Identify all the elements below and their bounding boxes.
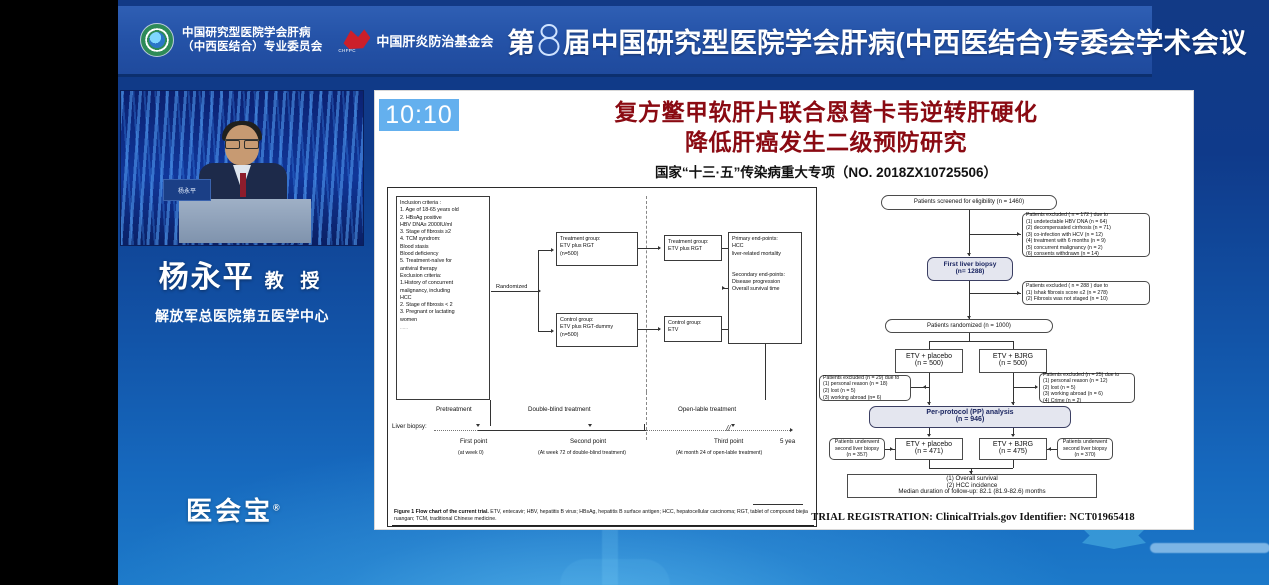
- skyline-base-1: [560, 559, 670, 585]
- timepoint-third: Third point: [714, 438, 743, 445]
- timeline-break-icon: //: [726, 424, 730, 433]
- excluded-left-3: (3) working abroad (n= 6): [823, 395, 881, 402]
- split-hline-bottom: [538, 331, 552, 332]
- brand-logo-text: 医会宝: [186, 496, 273, 526]
- biopsy-left-1: second liver biopsy: [835, 446, 879, 453]
- figure-caption-rule: [392, 525, 814, 526]
- criteria-15: 3. Pregnant or lactating: [400, 309, 486, 316]
- biopsy-right-arrow: [1048, 447, 1051, 451]
- pp-placebo-arrow: [927, 434, 931, 437]
- pp-arrow-left: [927, 402, 931, 405]
- tick-first: [476, 424, 480, 427]
- timepoint-first: First point: [460, 438, 487, 445]
- cg-to-cg2-line: [638, 329, 660, 330]
- timepoint-note-0: (at week 0): [458, 450, 484, 456]
- arm-bjrg-1: (n = 500): [999, 361, 1027, 368]
- rand-split: [929, 341, 1013, 342]
- out-right-v: [1013, 460, 1014, 468]
- excluded-left-1: (1) personal reason (n = 18): [823, 381, 887, 388]
- speaker-glasses-icon: [225, 139, 259, 146]
- cg2-arrow: [658, 327, 661, 331]
- treatment-group-0: Treatment group:: [560, 236, 634, 243]
- trial-flow-chart: Inclusion criteria : 1. Age of 18-65 yea…: [387, 187, 817, 527]
- excl-left-arrow: [923, 385, 926, 389]
- letterbox-left: [0, 0, 118, 585]
- speaker-name: 杨永平教 授: [120, 252, 364, 296]
- criteria-5: 4. TCM syndrom:: [400, 236, 486, 243]
- criteria-11: 1.History of concurrent: [400, 280, 486, 287]
- timeline-solid: [478, 430, 646, 431]
- skyline-glow: [1150, 543, 1269, 553]
- randomized-in-line: [491, 291, 539, 292]
- foundation-flame-icon: CHFPC: [338, 27, 374, 53]
- endpoint-1: HCC: [732, 243, 798, 250]
- excl-left-hline: [909, 387, 929, 388]
- slide-subtitle: 国家“十三·五”传染病重大专项（NO. 2018ZX10725506）: [473, 161, 1179, 181]
- brand-logo: 医会宝®: [186, 491, 280, 528]
- criteria-12: malignancy, including: [400, 288, 486, 295]
- criteria-9: antiviral therapy: [400, 266, 486, 273]
- treatment-group2-0: Treatment group:: [668, 239, 718, 246]
- screened-vline: [969, 210, 970, 256]
- excluded1-1: (1) undetectable HBV DNA (n = 64): [1026, 219, 1107, 226]
- endpoint-0: Primary end-points:: [732, 236, 798, 243]
- trial-registration-rule: [753, 504, 803, 505]
- biopsy-left-2: (n = 357): [847, 452, 868, 459]
- phase-label-double-blind: Double-blind treatment: [528, 406, 591, 413]
- speaker-affiliation: 解放军总医院第五医学中心: [120, 306, 364, 326]
- treatment-group2-1: ETV plus RGT: [668, 246, 718, 253]
- speaker-honorific: 教 授: [265, 271, 326, 292]
- slide-title: 复方鳖甲软肝片联合恩替卡韦逆转肝硬化 降低肝癌发生二级预防研究: [473, 97, 1179, 157]
- treatment-arrow: [551, 248, 554, 252]
- endpoint-6: Disease progression: [732, 279, 798, 286]
- organizer-name: 中国研究型医院学会肝病 （中西医结合）专业委员会: [182, 26, 322, 54]
- phase-divider-1: [646, 196, 647, 392]
- pp-placebo-box: ETV + placebo (n = 471): [895, 438, 963, 460]
- rand-left-drop: [929, 341, 930, 349]
- criteria-2: 2. HBsAg positive: [400, 215, 486, 222]
- excluded-right-4: (4) Crime (n = 2): [1043, 398, 1081, 405]
- pp-analysis-1: (n = 946): [956, 417, 985, 424]
- excluded2-0: Patients excluded ( n = 288 ) due to: [1026, 283, 1108, 290]
- foundation-logo-block: CHFPC 中国肝炎防治基金会: [338, 27, 493, 53]
- criteria-16: women: [400, 317, 486, 324]
- criteria-17: ……: [400, 324, 486, 331]
- excluded-bjrg-box: Patients excluded (n = 25) due to (1) pe…: [1039, 373, 1135, 403]
- society-seal-icon: [140, 23, 174, 57]
- excl-right-arrow: [1035, 385, 1038, 389]
- figure-caption: Figure 1 Flow chart of the current trial…: [394, 509, 812, 523]
- excluded-left-2: (2) lost (n = 5): [823, 388, 855, 395]
- timepoint-5yr: 5 yea: [780, 438, 795, 445]
- endpoint-gap1: [732, 258, 798, 265]
- endpoint-2: liver-related mortality: [732, 251, 798, 258]
- criteria-13: HCC: [400, 295, 486, 302]
- endpoints-arrow: [722, 286, 725, 290]
- excl2-hline: [969, 293, 1021, 294]
- criteria-tail-vline: [490, 400, 491, 426]
- outcomes-box: (1) Overall survival (2) HCC incidence M…: [847, 474, 1097, 498]
- control-group-box: Control group: ETV plus RGT-dummy (n=500…: [556, 313, 638, 347]
- treatment-group-1: ETV plus RGT: [560, 243, 634, 250]
- rand-right-drop: [1013, 341, 1014, 349]
- first-liver-biopsy-box: First liver biopsy (n= 1288): [927, 257, 1013, 281]
- excluded2-1: (1) Ishak fibrosis score ≤2 (n = 278): [1026, 290, 1108, 297]
- endpoint-gap2: [732, 265, 798, 272]
- timepoint-second: Second point: [570, 438, 606, 445]
- trial-registration: TRIAL REGISTRATION: ClinicalTrials.gov I…: [755, 512, 1191, 523]
- consort-diagram: Patients screened for eligibility (n = 1…: [823, 191, 1191, 496]
- biopsy-right-1: second liver biopsy: [1063, 446, 1107, 453]
- endpoint-7: Overall survival time: [732, 286, 798, 293]
- first-biopsy-1: (n= 1288): [956, 269, 985, 276]
- speaker-video-thumbnail[interactable]: 杨永平: [120, 90, 364, 246]
- outcome-2: Median duration of follow-up: 82.1 (81.9…: [898, 489, 1045, 496]
- criteria-4: 3. Stage of fibrosis ≥2: [400, 229, 486, 236]
- endpoint-5: Secondary end-points:: [732, 272, 798, 279]
- control-group-1: ETV plus RGT-dummy: [560, 324, 634, 331]
- dbl-blind-bracket: [644, 424, 645, 431]
- screened-box: Patients screened for eligibility (n = 1…: [881, 195, 1057, 210]
- criteria-1: 1. Age of 18-65 years old: [400, 207, 486, 214]
- phase-divider-2: [646, 392, 647, 440]
- banner-title: 第 届中国研究型医院学会肝病(中西医结合)专委会学术会议: [507, 20, 1246, 60]
- pp-bjrg-1: (n = 475): [999, 449, 1027, 456]
- treatment-group-box: Treatment group: ETV plus RGT (n=500): [556, 232, 638, 266]
- criteria-6: Blood stasis: [400, 244, 486, 251]
- figure-caption-bold: Figure 1 Flow chart of the current trial…: [394, 509, 489, 515]
- slide-title-line2: 降低肝癌发生二级预防研究: [473, 127, 1179, 157]
- phase-label-pretreatment: Pretreatment: [436, 406, 472, 413]
- criteria-0: Inclusion criteria :: [400, 200, 486, 207]
- screen-capture: 中国研究型医院学会肝病 （中西医结合）专业委员会 CHFPC 中国肝炎防治基金会…: [0, 0, 1269, 585]
- foundation-name: 中国肝炎防治基金会: [376, 31, 493, 50]
- excluded1-0: Patients excluded ( n = 172 ) due to: [1026, 212, 1108, 219]
- excluded-right-2: (2) lost (n = 5): [1043, 385, 1075, 392]
- timepoint-note-2: (At month 24 of open-lable treatment): [676, 450, 762, 456]
- tg-to-tg2-line: [638, 248, 660, 249]
- excluded1-4: (4) treatment with 6 months (n = 9): [1026, 238, 1106, 245]
- speaker-name-text: 杨永平: [159, 261, 255, 294]
- excl1-arrow: [1017, 232, 1020, 236]
- excl-right-hline: [1013, 387, 1037, 388]
- placebo-vline: [929, 373, 930, 405]
- pp-analysis-box: Per-protocol (PP) analysis (n = 946): [869, 406, 1071, 428]
- phase-label-open-label: Open-lable treatment: [678, 406, 736, 413]
- timepoint-note-1: (At week 72 of double-blind treatment): [538, 450, 626, 456]
- eligibility-criteria-box: Inclusion criteria : 1. Age of 18-65 yea…: [396, 196, 490, 400]
- endpoints-box: Primary end-points: HCC liver-related mo…: [728, 232, 802, 344]
- randomized-box: Patients randomized (n = 1000): [885, 319, 1053, 333]
- eight-ordinal-icon: [536, 23, 562, 57]
- control-group2-0: Control group:: [668, 320, 718, 327]
- biopsy-left-0: Patients underwent: [835, 439, 879, 446]
- tick-second: [588, 424, 592, 427]
- excluded-left-0: Patients excluded (n = 29) due to: [823, 375, 899, 382]
- presentation-slide[interactable]: 10:10 复方鳖甲软肝片联合恩替卡韦逆转肝硬化 降低肝癌发生二级预防研究 国家…: [374, 90, 1194, 530]
- banner-title-post: 届中国研究型医院学会肝病(中西医结合)专委会学术会议: [563, 20, 1247, 60]
- time-badge: 10:10: [379, 99, 459, 131]
- rand-stem: [969, 333, 970, 341]
- control-group-open-box: Control group: ETV: [664, 316, 722, 342]
- criteria-10: Exclusion criteria:: [400, 273, 486, 280]
- excluded-screening-box: Patients excluded ( n = 172 ) due to (1)…: [1022, 213, 1150, 257]
- foundation-mark-text: CHFPC: [338, 48, 356, 53]
- pp-bjrg-box: ETV + BJRG (n = 475): [979, 438, 1047, 460]
- excluded1-6: (6) consents withdrawn (n = 14): [1026, 251, 1099, 258]
- speaker-tie: [240, 173, 246, 197]
- criteria-3: HBV DNA≥ 2000IU/ml: [400, 222, 486, 229]
- criteria-7: Blood deficiency: [400, 251, 486, 258]
- excluded-placebo-box: Patients excluded (n = 29) due to (1) pe…: [819, 375, 911, 401]
- excluded1-5: (5) concurrent malignancy (n = 2): [1026, 245, 1103, 252]
- treatment-group-2: (n=500): [560, 251, 634, 258]
- control-group-2: (n=500): [560, 332, 634, 339]
- second-biopsy-left-box: Patients underwent second liver biopsy (…: [829, 438, 885, 460]
- randomized-arrow: [538, 289, 541, 293]
- organizer-logo-block: 中国研究型医院学会肝病 （中西医结合）专业委员会: [140, 23, 322, 57]
- excl1-hline: [969, 234, 1021, 235]
- excluded-right-3: (3) working abroad (n = 6): [1043, 391, 1103, 398]
- pp-placebo-1: (n = 471): [915, 449, 943, 456]
- pp-bjrg-arrow: [1011, 434, 1015, 437]
- pp-arrow-right: [1011, 402, 1015, 405]
- biopsy-right-2: (n = 370): [1075, 452, 1096, 459]
- control-arrow: [551, 329, 554, 333]
- excl2-arrow: [1017, 291, 1020, 295]
- speaker-podium: [179, 199, 311, 243]
- arm-placebo-1: (n = 500): [915, 361, 943, 368]
- banner-title-pre: 第: [507, 20, 535, 60]
- randomized-label: Randomized: [496, 284, 527, 290]
- control-group2-1: ETV: [668, 327, 718, 334]
- liver-biopsy-label: Liver biopsy:: [392, 423, 427, 430]
- brand-registered-mark: ®: [273, 502, 280, 512]
- biopsy-left-arrow: [890, 447, 893, 451]
- criteria-8: 5. Treatment-naïve for: [400, 258, 486, 265]
- arm-bjrg-box: ETV + BJRG (n = 500): [979, 349, 1047, 373]
- timeline-end-arrow: [790, 428, 793, 432]
- speaker-nameplate: 杨永平: [163, 179, 211, 201]
- excluded-right-0: Patients excluded (n = 25) due to: [1043, 372, 1119, 379]
- excluded2-2: (2) Fibrosis was not staged (n = 10): [1026, 296, 1108, 303]
- arm-placebo-box: ETV + placebo (n = 500): [895, 349, 963, 373]
- organizer-name-line2: （中西医结合）专业委员会: [182, 40, 322, 54]
- slide-title-line1: 复方鳖甲软肝片联合恩替卡韦逆转肝硬化: [473, 97, 1179, 127]
- to-biopsy-arrow: [967, 253, 971, 256]
- excluded1-3: (3) co-infection with HCV (n = 12): [1026, 232, 1103, 239]
- split-hline-top: [538, 250, 552, 251]
- excluded-biopsy-box: Patients excluded ( n = 288 ) due to (1)…: [1022, 281, 1150, 305]
- treatment-group-open-box: Treatment group: ETV plus RGT: [664, 235, 722, 261]
- tg2-arrow: [658, 246, 661, 250]
- control-group-0: Control group:: [560, 317, 634, 324]
- bjrg-vline: [1013, 373, 1014, 405]
- biopsy-vline: [969, 281, 970, 319]
- biopsy-right-0: Patients underwent: [1063, 439, 1107, 446]
- excluded-right-1: (1) personal reason (n = 12): [1043, 378, 1107, 385]
- criteria-14: 2. Stage of fibrosis < 2: [400, 302, 486, 309]
- organizer-name-line1: 中国研究型医院学会肝病: [182, 26, 322, 40]
- tick-third: [731, 424, 735, 427]
- second-biopsy-right-box: Patients underwent second liver biopsy (…: [1057, 438, 1113, 460]
- out-left-v: [929, 460, 930, 468]
- conference-banner: 中国研究型医院学会肝病 （中西医结合）专业委员会 CHFPC 中国肝炎防治基金会…: [118, 6, 1152, 74]
- endpoints-tail-vline: [765, 344, 766, 400]
- timeline-dotted-right: [646, 430, 790, 431]
- excluded1-2: (2) decompensated cirrhosis (n = 71): [1026, 225, 1111, 232]
- timeline-dotted-left: [434, 430, 478, 431]
